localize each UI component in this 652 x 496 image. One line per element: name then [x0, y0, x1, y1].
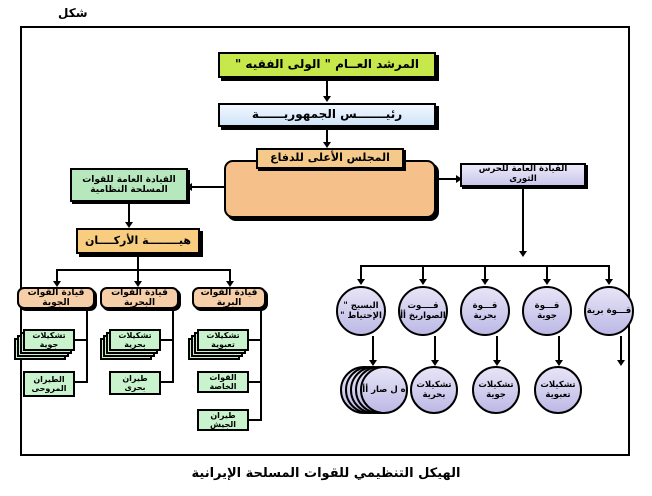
ellipse-irgc-ground-force[interactable]: قـــوة برية [584, 286, 634, 336]
node-special-forces[interactable]: القوات الخاصة [197, 371, 249, 393]
node-helicopter-aviation[interactable]: الطيران المروحى [23, 371, 75, 397]
node-branch-navy[interactable]: قيادة القوات البحرية [100, 287, 179, 309]
connector-council-irgc [436, 178, 458, 180]
arrow-irgc-trunk [519, 251, 527, 257]
ellipse-basij[interactable]: البسيج " الإحتياط " [336, 286, 386, 336]
node-defense-council-title[interactable]: المجلس الأعلى للدفاع [256, 148, 404, 169]
node-army-formations[interactable]: تشكيلات تعبوية [197, 329, 249, 351]
node-regular-forces-command[interactable]: القيادة العامة للقوات المسلحة النظامية [70, 168, 188, 202]
node-branch-air-force[interactable]: قيادة القوات الجوية [17, 287, 95, 309]
ellipse-basij-formations[interactable]: ه ل صار أأ [360, 366, 408, 414]
connector-basij-sub [372, 336, 374, 362]
diagram-stage: شكل المرشد العــام " الولى الفقيه " رئيـ… [0, 0, 652, 496]
connector-navy-spine [172, 309, 174, 381]
ellipse-tactical-formations[interactable]: تشكيلات تعبوية [534, 366, 582, 414]
arrow-irgcground-sub [617, 360, 625, 366]
ellipse-irgc-air-force[interactable]: قـــوة جوية [522, 286, 572, 336]
ellipse-naval-formations[interactable]: تشكيلات بحرية [410, 366, 458, 414]
arrow-irgc-ground [605, 279, 613, 285]
figure-caption: الهيكل التنظيمي للقوات المسلحة الإيرانية [0, 466, 652, 481]
ellipse-air-formations[interactable]: تشكيلات جوية [472, 366, 520, 414]
node-army-aviation[interactable]: طيران الجيش [197, 409, 249, 431]
connector-irgcair-sub [558, 336, 560, 362]
node-president[interactable]: رئيـــــــس الجمهوريــــــة [218, 103, 436, 127]
ellipse-irgc-navy[interactable]: قـــوة بحرية [460, 286, 510, 336]
arrow-irgc-air [543, 279, 551, 285]
arrow-irgc-basij [357, 279, 365, 285]
connector-leader-president [326, 78, 328, 98]
ellipse-missile-force[interactable]: قــــوت الصواريخ أأ [398, 286, 448, 336]
connector-staff-bus [56, 269, 231, 271]
arrow-irgc-missile [419, 279, 427, 285]
arrow-leader-president [323, 96, 331, 102]
connector-army-spine [260, 309, 262, 421]
connector-council-regular [190, 186, 226, 188]
node-irgc-command[interactable]: القيادة العامة للحرس الثورى [460, 163, 586, 187]
node-branch-army[interactable]: قيادة القوات البرية [192, 287, 266, 309]
arrow-irgc-navy [481, 279, 489, 285]
connector-staff-trunk [137, 254, 139, 270]
figure-label: شكل [58, 6, 88, 20]
connector-irgc-trunk [522, 187, 524, 253]
node-general-staff[interactable]: هيــــــــة الأركــــان [76, 228, 200, 254]
connector-air-spine [86, 309, 88, 381]
node-naval-aviation[interactable]: طيران بحرى [109, 371, 161, 395]
connector-irgcground-sub [620, 336, 622, 362]
node-supreme-leader[interactable]: المرشد العــام " الولى الفقيه " [218, 52, 436, 78]
node-navy-formations[interactable]: تشكيلات بحرية [109, 329, 161, 351]
connector-irgcnavy-sub [496, 336, 498, 362]
connector-regular-staff [128, 202, 130, 224]
connector-missile-sub [434, 336, 436, 362]
node-air-formations[interactable]: تشكيلات جوية [23, 329, 75, 351]
